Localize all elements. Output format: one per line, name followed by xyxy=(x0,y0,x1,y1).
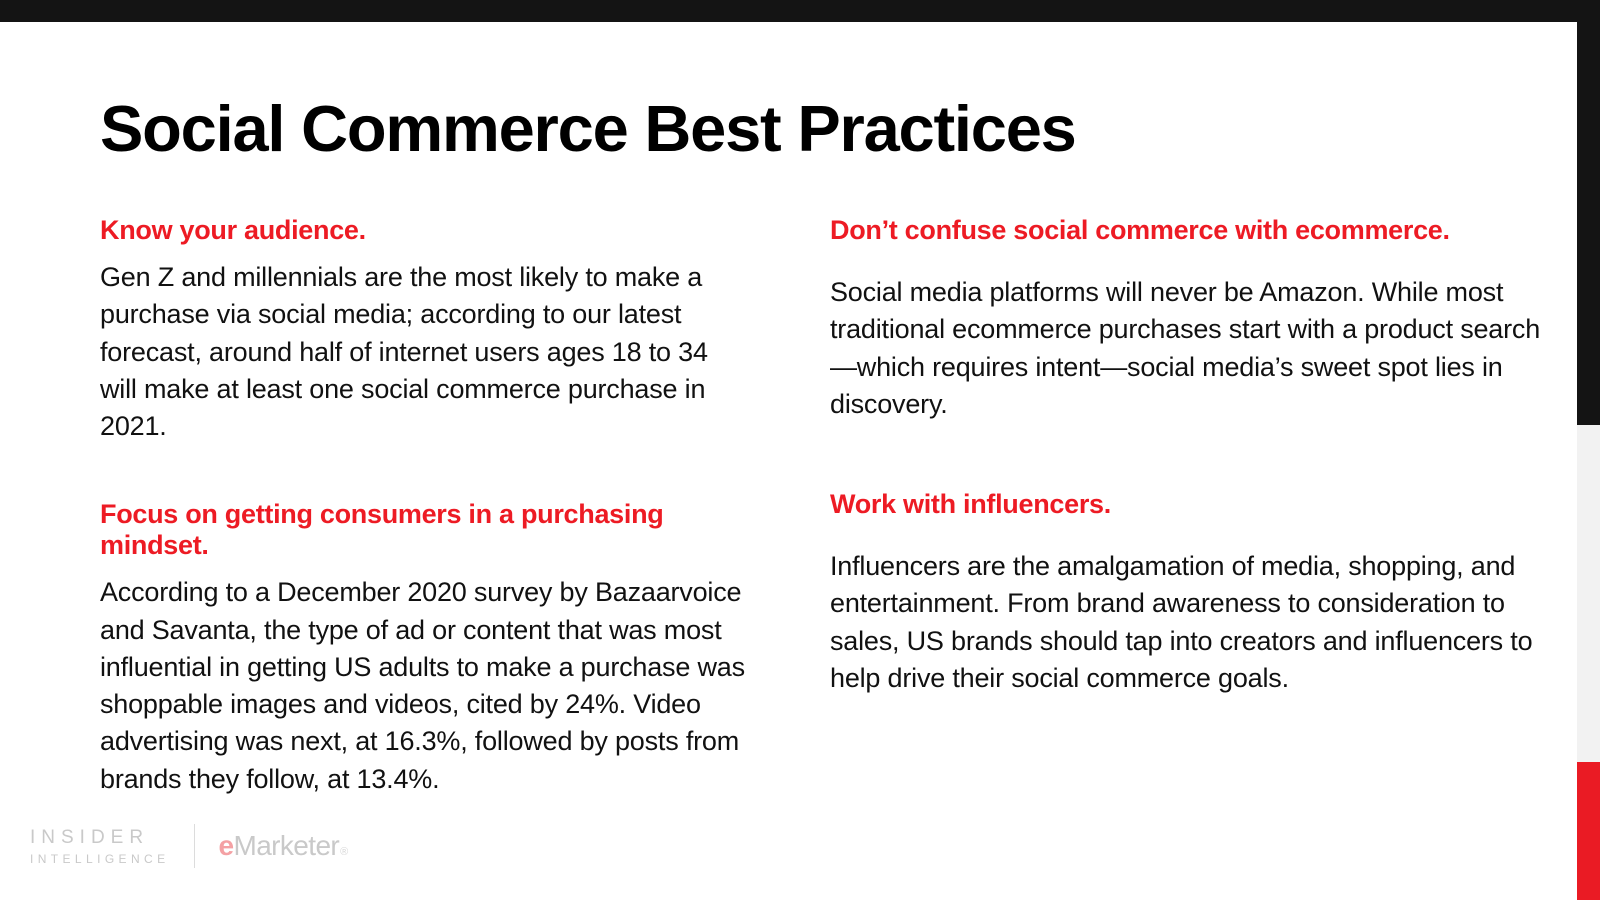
edge-strip-gray xyxy=(1577,425,1600,762)
emarketer-logo-trademark: ® xyxy=(340,846,348,858)
content-columns: Know your audience. Gen Z and millennial… xyxy=(0,215,1577,798)
top-bar xyxy=(0,0,1600,22)
tip-block: Focus on getting consumers in a purchasi… xyxy=(100,499,748,798)
logo-divider xyxy=(194,824,195,868)
tip-heading: Know your audience. xyxy=(100,215,748,246)
emarketer-logo-text: Marketer xyxy=(233,830,339,862)
emarketer-logo-e: e xyxy=(219,830,234,862)
tip-heading: Focus on getting consumers in a purchasi… xyxy=(100,499,748,561)
tip-body: According to a December 2020 survey by B… xyxy=(100,574,748,798)
emarketer-logo: e Marketer ® xyxy=(219,830,348,862)
tip-heading: Work with influencers. xyxy=(830,489,1542,520)
insider-logo-line1: INSIDER xyxy=(30,825,170,851)
insider-logo-line2: INTELLIGENCE xyxy=(30,851,170,867)
footer-logos: INSIDER INTELLIGENCE e Marketer ® xyxy=(30,824,348,868)
tip-block: Know your audience. Gen Z and millennial… xyxy=(100,215,748,445)
column-right: Don’t confuse social commerce with ecomm… xyxy=(830,215,1542,798)
insider-intelligence-logo: INSIDER INTELLIGENCE xyxy=(30,825,170,867)
edge-strip-red xyxy=(1577,762,1600,900)
page-title: Social Commerce Best Practices xyxy=(100,95,1076,163)
tip-block: Don’t confuse social commerce with ecomm… xyxy=(830,215,1542,423)
tip-body: Social media platforms will never be Ama… xyxy=(830,274,1542,423)
tip-body: Influencers are the amalgamation of medi… xyxy=(830,548,1542,697)
edge-strip-black xyxy=(1577,0,1600,425)
tip-block: Work with influencers. Influencers are t… xyxy=(830,489,1542,697)
tip-body: Gen Z and millennials are the most likel… xyxy=(100,259,748,445)
column-left: Know your audience. Gen Z and millennial… xyxy=(100,215,748,798)
tip-heading: Don’t confuse social commerce with ecomm… xyxy=(830,215,1542,246)
slide-canvas: Social Commerce Best Practices Know your… xyxy=(0,0,1600,900)
